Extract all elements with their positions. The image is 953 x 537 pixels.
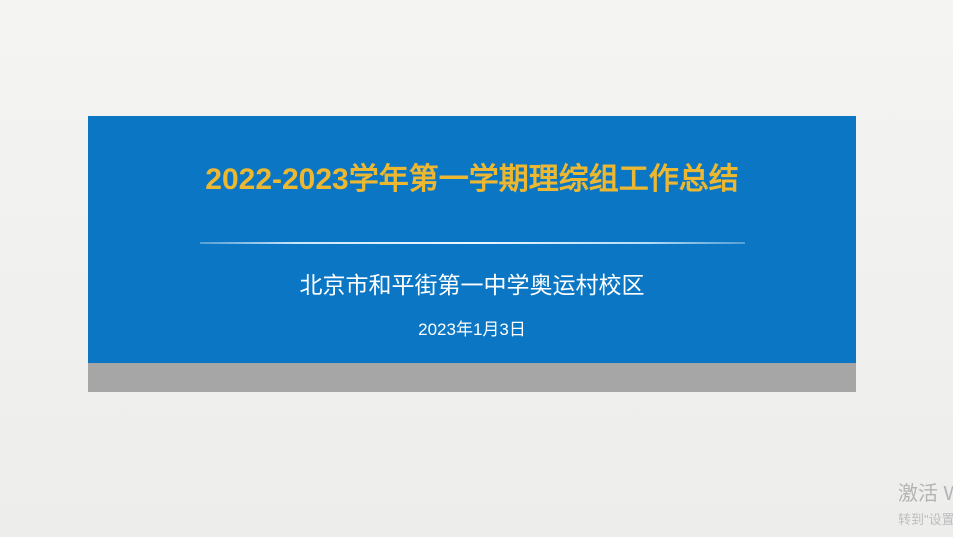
slide-footer-bar [88,363,856,392]
slide-title: 2022-2023学年第一学期理综组工作总结 [88,163,856,198]
slide-subtitle: 北京市和平街第一中学奥运村校区 [88,272,856,300]
slide[interactable]: 2022-2023学年第一学期理综组工作总结 北京市和平街第一中学奥运村校区 2… [88,116,856,392]
slide-date: 2023年1月3日 [88,320,856,340]
slide-blue-panel: 2022-2023学年第一学期理综组工作总结 北京市和平街第一中学奥运村校区 2… [88,116,856,363]
activation-watermark-subtitle: 转到"设置"以激活 Windows [898,510,953,530]
windows-activation-watermark: 激活 Windows 转到"设置"以激活 Windows [898,481,953,530]
presentation-background: 2022-2023学年第一学期理综组工作总结 北京市和平街第一中学奥运村校区 2… [0,0,953,537]
title-divider-rule [200,242,745,244]
activation-watermark-title: 激活 Windows [898,481,953,507]
